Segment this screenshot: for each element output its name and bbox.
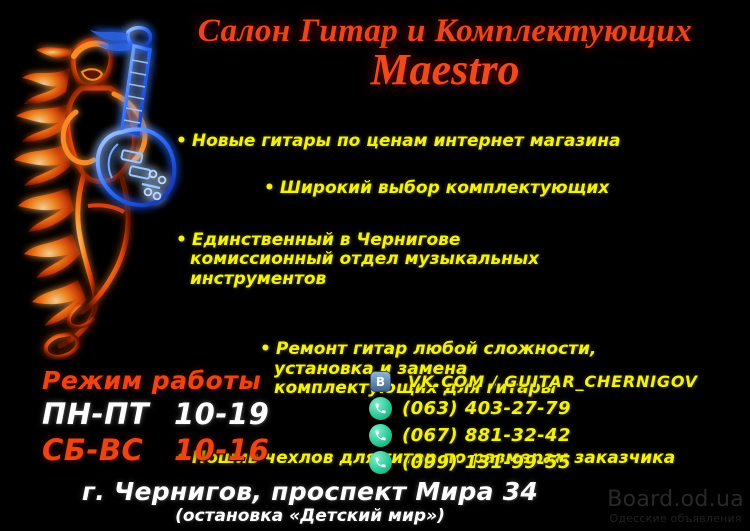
vk-icon-glyph: B bbox=[370, 371, 391, 392]
phone-icon-circle bbox=[369, 397, 392, 420]
contact-row-phone-3[interactable]: (099) 131-99-55 bbox=[368, 450, 698, 475]
address-line2: (остановка «Детский мир») bbox=[0, 506, 620, 526]
phone-number-1[interactable]: (063) 403-27-79 bbox=[402, 398, 571, 419]
phone-icon bbox=[368, 450, 393, 475]
vk-icon: B bbox=[368, 369, 393, 394]
list-item-text: Единственный в Чернигове bbox=[192, 230, 461, 250]
list-item: •Единственный в Чернигове комиссионный о… bbox=[176, 211, 742, 309]
hours-days-weekdays: ПН-ПТ bbox=[42, 396, 174, 432]
bullet-marker: • bbox=[176, 131, 187, 151]
watermark: Board.od.ua Одесские объявления bbox=[607, 488, 744, 525]
bullet-marker: • bbox=[260, 339, 271, 359]
phone-number-3[interactable]: (099) 131-99-55 bbox=[402, 452, 571, 473]
contact-row-phone-2[interactable]: (067) 881-32-42 bbox=[368, 423, 698, 448]
list-item: •Новые гитары по ценам интернет магазина bbox=[176, 112, 742, 151]
headline-line1: Салон Гитар и Комплектующих bbox=[150, 14, 740, 49]
phone-icon-circle bbox=[369, 424, 392, 447]
contact-row-vk[interactable]: B VK.COM / GUITAR_CHERNIGOV bbox=[368, 369, 698, 394]
hours-row-weekdays: ПН-ПТ 10-19 bbox=[42, 396, 342, 432]
working-hours-title: Режим работы bbox=[42, 366, 342, 396]
contacts-block: B VK.COM / GUITAR_CHERNIGOV (063) 403-27… bbox=[368, 369, 698, 477]
watermark-tagline: Одесские объявления bbox=[607, 512, 744, 525]
advertisement-banner: Салон Гитар и Комплектующих Maestro •Нов… bbox=[0, 0, 750, 531]
headline: Салон Гитар и Комплектующих Maestro bbox=[150, 14, 740, 93]
headline-line2-maestro: Maestro bbox=[150, 47, 740, 93]
contact-row-phone-1[interactable]: (063) 403-27-79 bbox=[368, 396, 698, 421]
working-hours-block: Режим работы ПН-ПТ 10-19 СБ-ВС 10-16 bbox=[42, 366, 342, 468]
hours-days-weekend: СБ-ВС bbox=[42, 432, 174, 468]
watermark-site: Board.od.ua bbox=[607, 488, 744, 512]
list-item-text: Широкий выбор комплектующих bbox=[280, 178, 609, 198]
phone-number-2[interactable]: (067) 881-32-42 bbox=[402, 425, 571, 446]
hours-row-weekend: СБ-ВС 10-16 bbox=[42, 432, 342, 468]
address-block: г. Чернигов, проспект Мира 34 (остановка… bbox=[0, 478, 620, 526]
list-item-text: Ремонт гитар любой сложности, bbox=[276, 339, 597, 359]
vk-link-text[interactable]: VK.COM / GUITAR_CHERNIGOV bbox=[402, 372, 698, 391]
address-line1: г. Чернигов, проспект Мира 34 bbox=[0, 478, 620, 506]
hours-time-weekdays: 10-19 bbox=[174, 396, 269, 432]
list-item-text: Новые гитары по ценам интернет магазина bbox=[192, 131, 621, 151]
hours-time-weekend: 10-16 bbox=[174, 432, 269, 468]
phone-icon-circle bbox=[369, 451, 392, 474]
list-item: •Широкий выбор комплектующих bbox=[176, 159, 742, 198]
bullet-marker: • bbox=[176, 230, 187, 250]
phone-icon bbox=[368, 423, 393, 448]
list-item-continuation: комиссионный отдел музыкальных инструмен… bbox=[176, 250, 742, 289]
phone-icon bbox=[368, 396, 393, 421]
bullet-marker: • bbox=[264, 178, 275, 198]
